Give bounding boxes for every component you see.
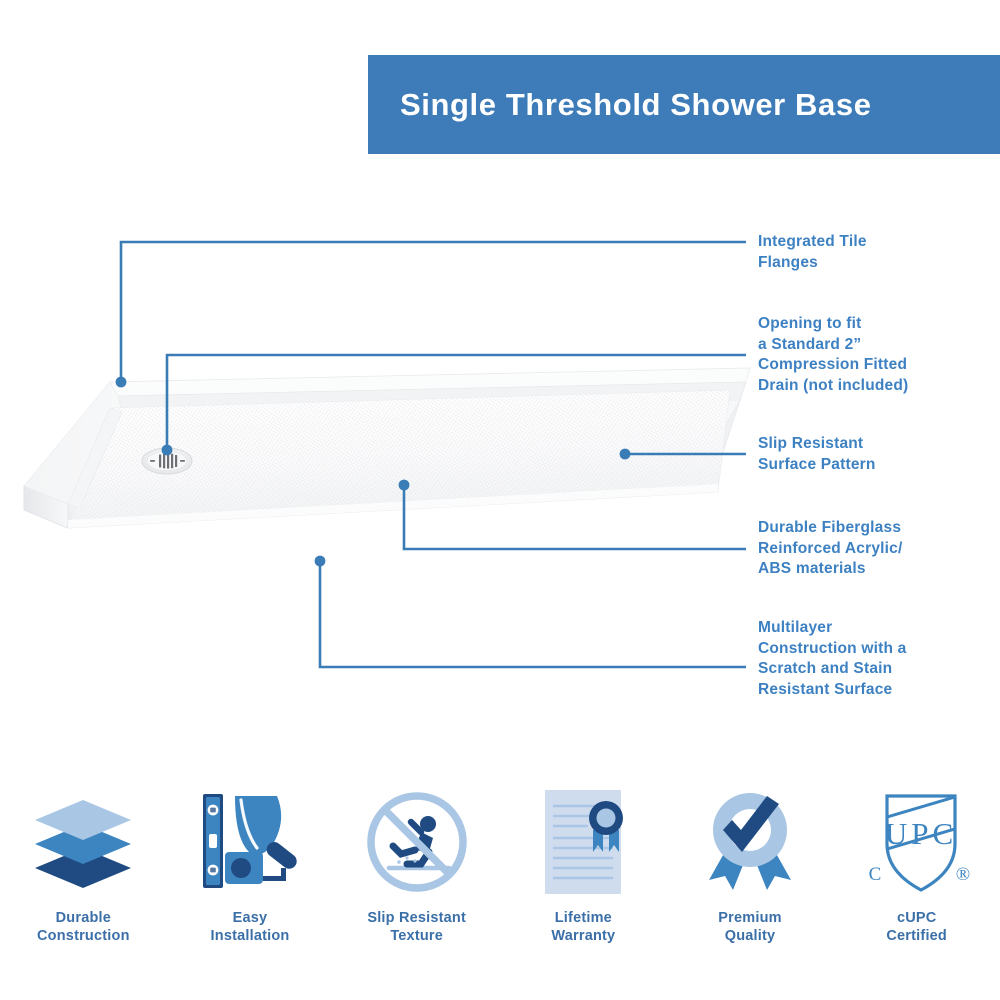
callout-label-drain-opening: Opening to fit a Standard 2” Compression… xyxy=(758,314,908,396)
feature-caption: Easy Installation xyxy=(211,909,290,945)
feature-caption: Slip Resistant Texture xyxy=(367,909,466,945)
shower-base-drawing xyxy=(18,360,758,600)
feature-caption: cUPC Certified xyxy=(886,909,947,945)
infographic-canvas: Single Threshold Shower Base xyxy=(0,0,1000,1000)
no-slip-warning-icon xyxy=(358,783,476,901)
layered-diamonds-icon xyxy=(24,783,142,901)
feature-badges-row: Durable Construction xyxy=(0,783,1000,968)
feature-cupc-certified: UPC C ® cUPC Certified xyxy=(833,783,1000,945)
feature-slip-resistant-texture: Slip Resistant Texture xyxy=(333,783,500,945)
feature-easy-installation: Easy Installation xyxy=(167,783,334,945)
callout-label-durable-fiberglass-materials: Durable Fiberglass Reinforced Acrylic/ A… xyxy=(758,518,903,580)
feature-premium-quality: Premium Quality xyxy=(667,783,834,945)
product-illustration xyxy=(18,360,758,600)
checkmark-rosette-icon xyxy=(691,783,809,901)
certificate-ribbon-icon xyxy=(524,783,642,901)
upc-registered-mark: ® xyxy=(955,864,969,885)
drain-grate xyxy=(142,448,192,474)
level-trowel-tape-icon xyxy=(191,783,309,901)
feature-lifetime-warranty: Lifetime Warranty xyxy=(500,783,667,945)
feature-caption: Premium Quality xyxy=(718,909,781,945)
title-banner: Single Threshold Shower Base xyxy=(368,55,1000,154)
page-title: Single Threshold Shower Base xyxy=(400,87,872,123)
upc-c-mark: C xyxy=(868,864,881,885)
feature-durable-construction: Durable Construction xyxy=(0,783,167,945)
callout-label-slip-resistant-surface-pattern: Slip Resistant Surface Pattern xyxy=(758,434,876,475)
feature-caption: Durable Construction xyxy=(37,909,130,945)
callout-label-multilayer-construction: Multilayer Construction with a Scratch a… xyxy=(758,618,906,700)
upc-shield-letters: UPC xyxy=(885,816,957,851)
upc-shield-icon: UPC C ® xyxy=(858,783,976,901)
callout-label-integrated-tile-flanges: Integrated Tile Flanges xyxy=(758,232,867,273)
feature-caption: Lifetime Warranty xyxy=(551,909,615,945)
